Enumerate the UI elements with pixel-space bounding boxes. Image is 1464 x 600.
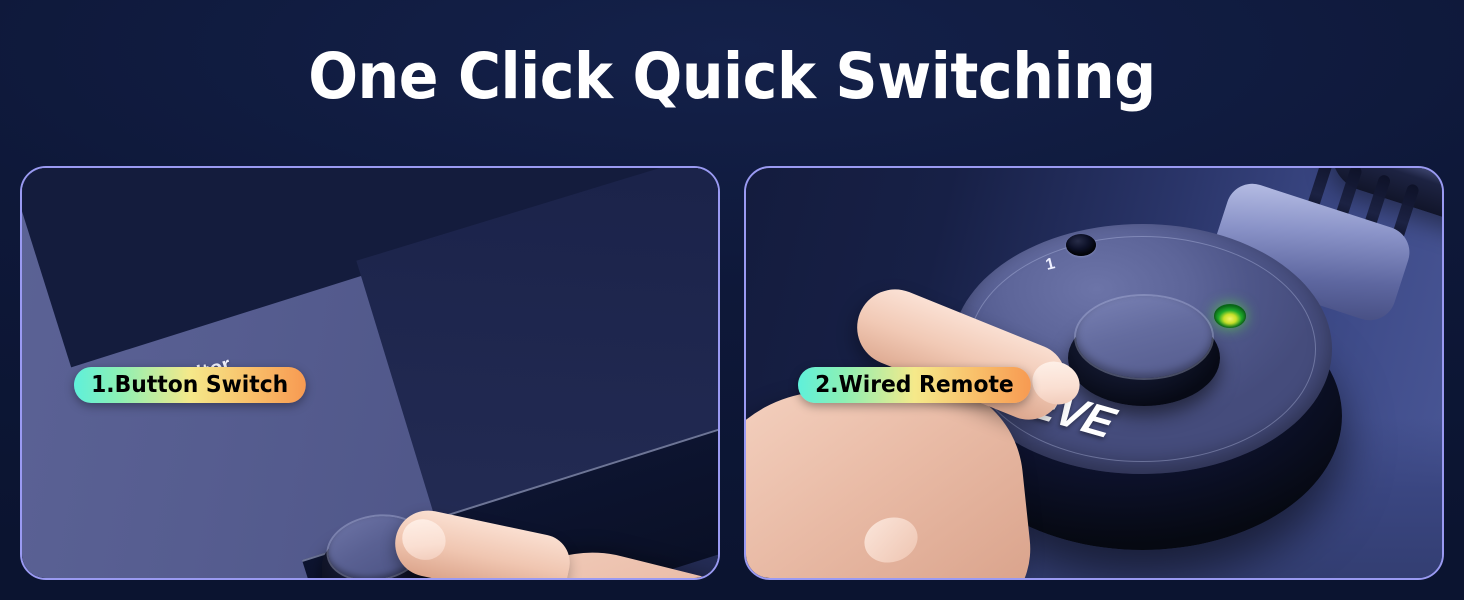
badge-button-switch: 1.Button Switch [74, 367, 305, 403]
fingernail [396, 512, 452, 566]
panel-button-switch: SELECT Monitor VE 1.Button Switch [20, 166, 720, 580]
promo-banner: One Click Quick Switching SEL [0, 0, 1464, 600]
panel-wired-remote: 1 2 CEVE 2.Wired Remote [744, 166, 1444, 580]
page-title: One Click Quick Switching [51, 44, 1413, 110]
feature-panels: SELECT Monitor VE 1.Button Switch [20, 166, 1444, 580]
hand-pressing-remote [746, 318, 1156, 578]
badge-wired-remote: 2.Wired Remote [798, 367, 1031, 403]
index-finger [389, 504, 575, 580]
led-indicator-1-off [1066, 234, 1096, 256]
hand-pressing-button [394, 498, 720, 580]
